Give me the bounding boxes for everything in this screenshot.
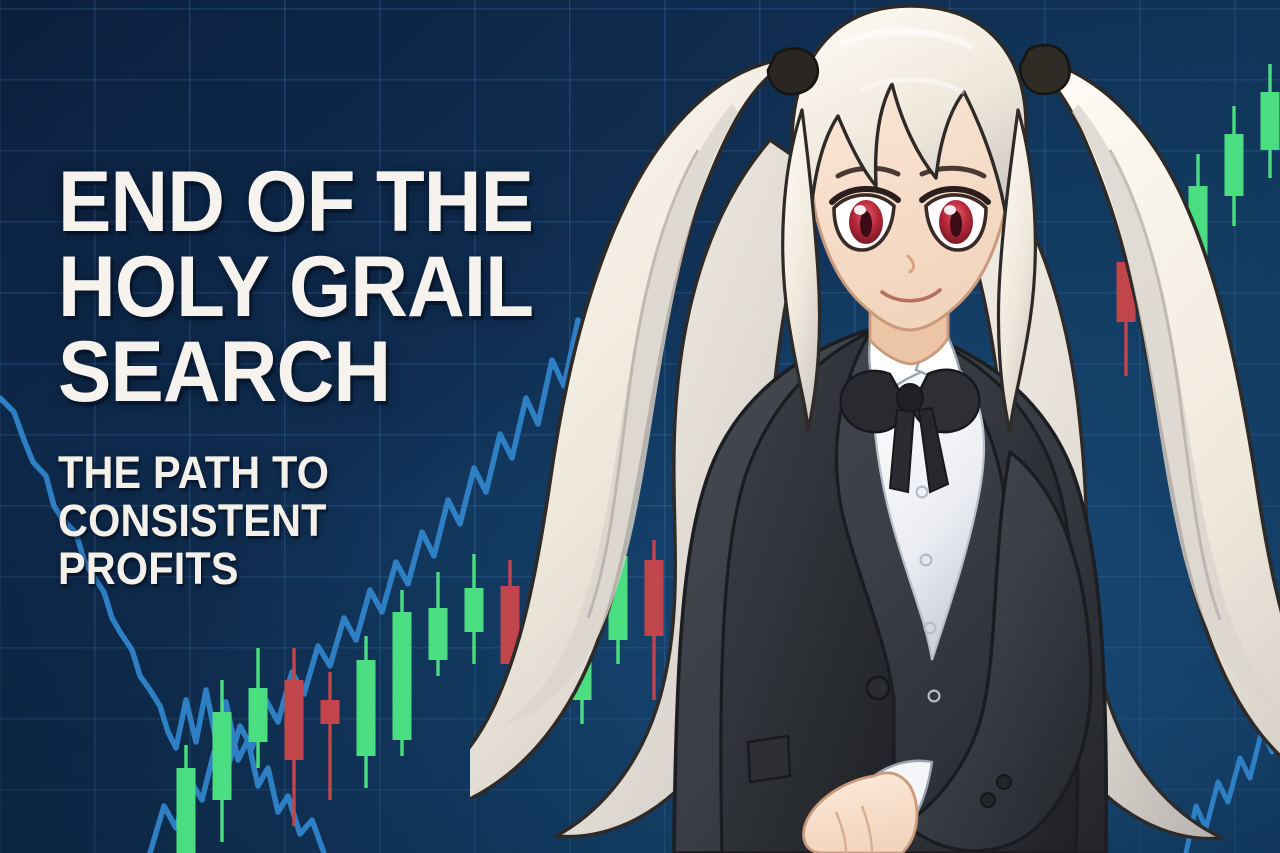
candle-body [177,768,196,853]
candle-body [213,712,232,800]
subheadline: THE PATH TO CONSISTENT PROFITS [58,449,610,592]
hair-tie-right [1020,45,1070,94]
headline-line-3: SEARCH [58,330,616,415]
subhead-line-1: THE PATH TO [58,449,610,497]
candle-body [357,660,376,756]
candle-body [321,700,340,724]
candle-body [249,688,268,742]
thumbnail-canvas: END OF THE HOLY GRAIL SEARCH THE PATH TO… [0,0,1280,853]
cuff-button [981,793,995,807]
jacket-button [867,677,889,699]
jacket-pocket [748,736,790,782]
headline-line-1: END OF THE [58,160,616,245]
headline: END OF THE HOLY GRAIL SEARCH [58,160,616,415]
hair-tie-left [768,48,818,94]
candle-body [393,612,412,740]
candle-body [429,608,448,660]
cuff-button [997,775,1011,789]
headline-line-2: HOLY GRAIL [58,245,616,330]
candle-body [285,680,304,760]
text-block: END OF THE HOLY GRAIL SEARCH THE PATH TO… [58,160,658,592]
subhead-line-2: CONSISTENT [58,497,610,545]
subhead-line-3: PROFITS [58,545,610,593]
